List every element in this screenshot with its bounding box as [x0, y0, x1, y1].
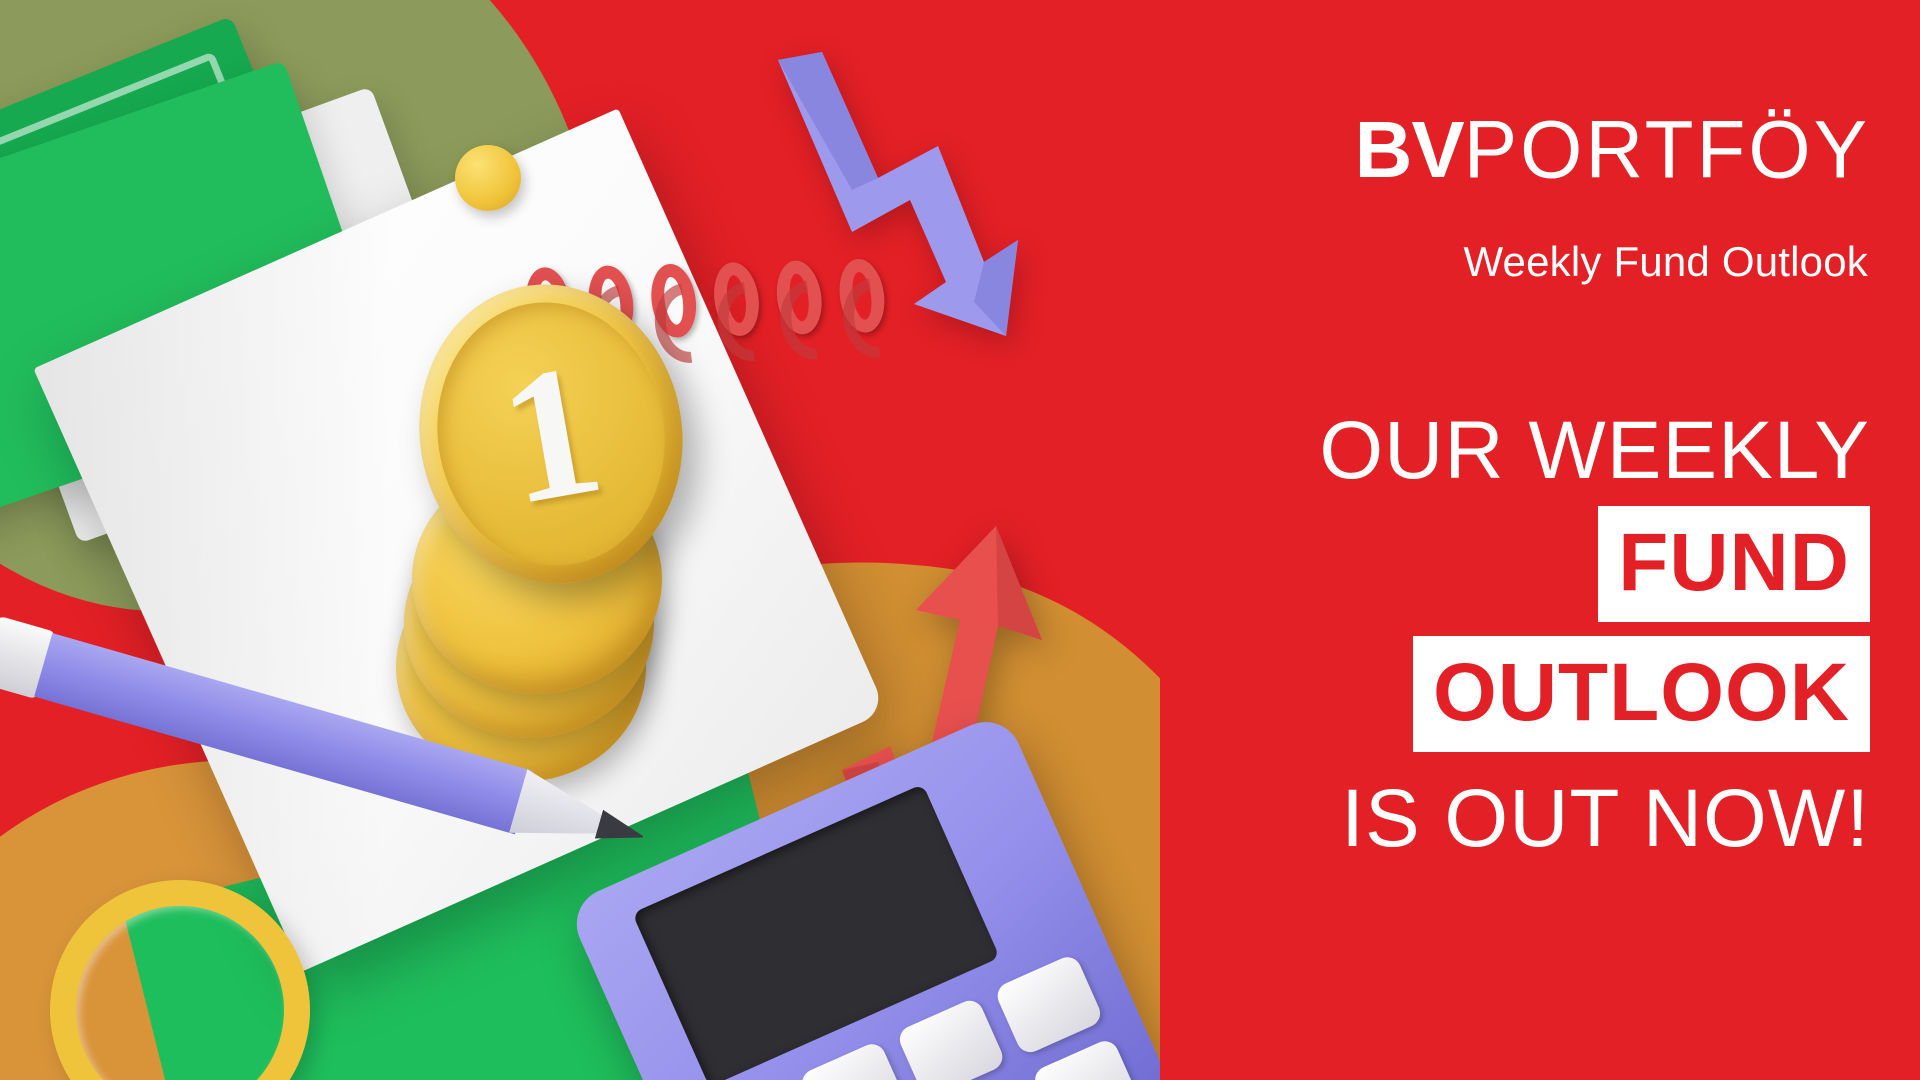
headline-block: OUR WEEKLY FUND OUTLOOK IS OUT NOW! — [1170, 410, 1870, 860]
purple-down-trend-arrow-icon — [760, 50, 1030, 360]
headline-line-1: OUR WEEKLY — [1170, 410, 1870, 492]
brand-tagline: Weekly Fund Outlook — [1463, 238, 1868, 286]
headline-line-4: IS OUT NOW! — [1170, 778, 1870, 860]
pencil-wood-tip — [509, 769, 633, 863]
pencil-lead-tip — [595, 810, 647, 852]
calculator-key — [895, 996, 1006, 1080]
illustration-scene: $ — [0, 0, 1160, 1080]
gold-coin-stack: 1 — [430, 290, 730, 710]
brand-logo-bold: BV — [1355, 110, 1464, 190]
gold-coin-front: 1 — [396, 264, 706, 605]
brand-logo: BV PORTFÖY — [1355, 110, 1870, 190]
text-panel: BV PORTFÖY Weekly Fund Outlook OUR WEEKL… — [1160, 0, 1920, 1080]
calculator-key — [798, 1040, 909, 1080]
brand-logo-light: PORTFÖY — [1464, 109, 1870, 191]
coin-number-one-icon: 1 — [396, 264, 706, 605]
poster-canvas: $ — [0, 0, 1920, 1080]
headline-box-outlook: OUTLOOK — [1413, 636, 1870, 752]
headline-box-fund: FUND — [1598, 506, 1870, 622]
calculator-key — [993, 953, 1104, 1057]
yellow-sphere-decoration — [455, 145, 521, 211]
